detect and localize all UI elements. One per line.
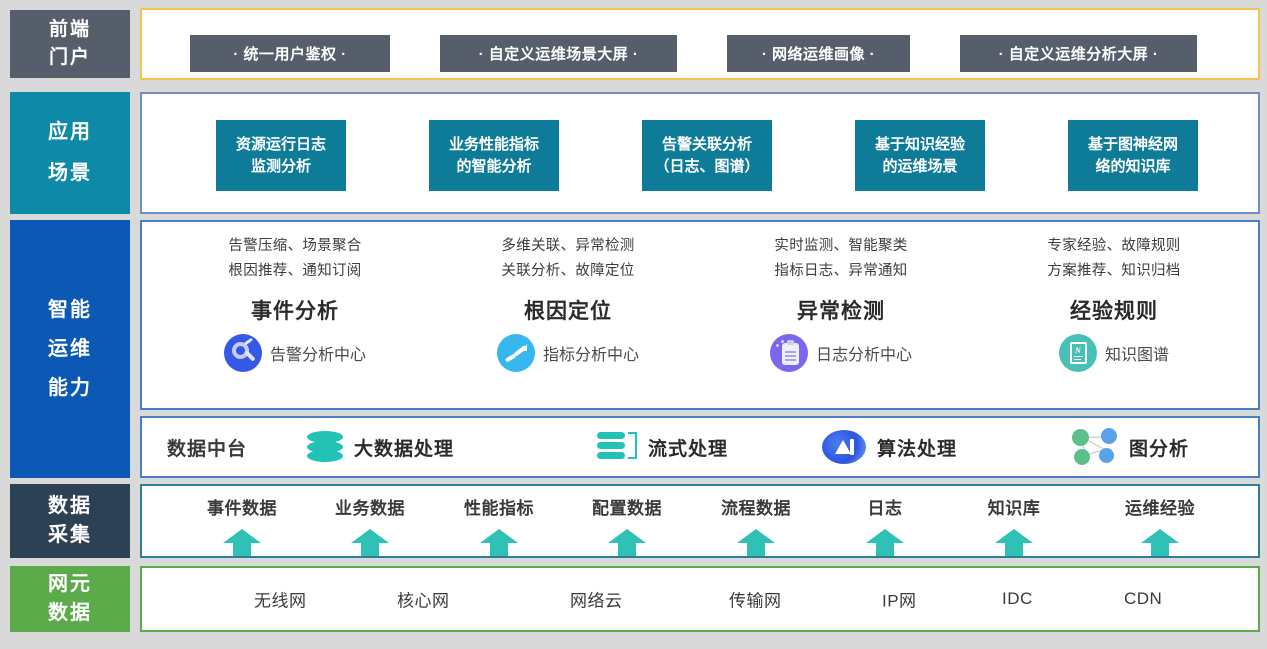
network-elements-panel: 无线网 核心网 网络云 传输网 IP网 IDC CDN <box>140 566 1260 632</box>
data-collection-label: 运维经验 <box>1100 494 1220 519</box>
row-label-portal-line-2: 门户 <box>49 44 91 72</box>
data-collection-item-6[interactable]: 知识库 <box>954 494 1074 556</box>
portal-chip-label: · 自定义运维分析大屏 · <box>999 43 1159 64</box>
capability-title: 根因定位 <box>443 295 693 325</box>
data-platform-item-stream[interactable]: 流式处理 <box>597 418 728 476</box>
scene-box-line-2: 络的知识库 <box>1095 156 1170 178</box>
capability-column-event-analysis: 告警压缩、场景聚合 根因推荐、通知订阅 事件分析 告警分析中心 <box>170 234 420 372</box>
scene-box-line-2: （日志、图谱） <box>654 156 759 178</box>
data-collection-item-3[interactable]: 配置数据 <box>567 494 687 556</box>
capability-subtext-line-2: 指标日志、异常通知 <box>716 259 966 284</box>
metric-analysis-icon <box>497 334 535 372</box>
portal-chip-label: · 网络运维画像 · <box>762 43 875 64</box>
knowledge-graph-icon: N <box>1059 334 1097 372</box>
network-element-item-0[interactable]: 无线网 <box>254 587 307 612</box>
capability-panel: 告警压缩、场景聚合 根因推荐、通知订阅 事件分析 告警分析中心 多维关联、异常检… <box>140 220 1260 410</box>
architecture-diagram: 前端 门户 · 统一用户鉴权 · · 自定义运维场景大屏 · · 网络运维画像 … <box>0 0 1267 649</box>
portal-chip-3[interactable]: · 自定义运维分析大屏 · <box>960 35 1197 72</box>
application-panel: 资源运行日志 监测分析 业务性能指标 的智能分析 告警关联分析 （日志、图谱） … <box>140 92 1260 214</box>
data-collection-label: 事件数据 <box>182 494 302 519</box>
stream-processing-icon <box>597 431 637 463</box>
scene-box-line-1: 业务性能指标 <box>449 134 539 156</box>
network-element-label: CDN <box>1124 589 1162 608</box>
alarm-analysis-icon <box>224 334 262 372</box>
arrow-up-icon <box>223 529 261 556</box>
capability-product-item[interactable]: N 知识图谱 <box>989 334 1239 372</box>
data-platform-panel: 数据中台 大数据处理 流式处理 算法处理 <box>140 416 1260 478</box>
data-platform-item-label: 图分析 <box>1129 434 1189 461</box>
arrow-up-icon <box>608 529 646 556</box>
network-element-label: IDC <box>1002 589 1033 608</box>
arrow-up-icon <box>351 529 389 556</box>
scene-box-line-2: 的运维场景 <box>882 156 957 178</box>
data-platform-title: 数据中台 <box>167 434 247 461</box>
data-platform-item-bigdata[interactable]: 大数据处理 <box>307 418 454 476</box>
row-label-capability-line-3: 能力 <box>48 374 92 403</box>
capability-product-item[interactable]: 日志分析中心 <box>716 334 966 372</box>
data-collection-panel: 事件数据 业务数据 性能指标 配置数据 流程数据 日志 知识库 运维经验 <box>140 484 1260 558</box>
row-label-application-line-1: 应用 <box>48 118 92 147</box>
arrow-up-icon <box>1141 529 1179 556</box>
scene-box-line-2: 监测分析 <box>251 156 311 178</box>
scene-box-0[interactable]: 资源运行日志 监测分析 <box>216 120 346 191</box>
scene-box-1[interactable]: 业务性能指标 的智能分析 <box>429 120 559 191</box>
network-element-label: IP网 <box>882 592 917 611</box>
arrow-up-icon <box>995 529 1033 556</box>
row-label-portal-line-1: 前端 <box>49 16 91 44</box>
capability-product-label: 指标分析中心 <box>543 341 639 365</box>
row-label-data-collection-line-2: 采集 <box>48 521 92 550</box>
data-collection-item-4[interactable]: 流程数据 <box>696 494 816 556</box>
capability-subtext-line-1: 专家经验、故障规则 <box>989 234 1239 259</box>
capability-subtext-line-1: 实时监测、智能聚类 <box>716 234 966 259</box>
data-collection-item-7[interactable]: 运维经验 <box>1100 494 1220 556</box>
capability-subtext-line-1: 告警压缩、场景聚合 <box>170 234 420 259</box>
capability-column-root-cause: 多维关联、异常检测 关联分析、故障定位 根因定位 指标分析中心 <box>443 234 693 372</box>
row-label-data-collection-line-1: 数据 <box>48 492 92 521</box>
row-label-network-elements-line-1: 网元 <box>48 570 92 599</box>
network-element-item-3[interactable]: 传输网 <box>729 587 782 612</box>
capability-subtext-line-2: 关联分析、故障定位 <box>443 259 693 284</box>
scene-box-2[interactable]: 告警关联分析 （日志、图谱） <box>642 120 772 191</box>
network-element-label: 无线网 <box>254 592 307 611</box>
portal-chip-0[interactable]: · 统一用户鉴权 · <box>190 35 390 72</box>
arrow-up-icon <box>866 529 904 556</box>
capability-subtext-line-2: 根因推荐、通知订阅 <box>170 259 420 284</box>
data-platform-title-item: 数据中台 <box>167 418 247 476</box>
data-platform-item-algorithm[interactable]: 算法处理 <box>822 418 957 476</box>
scene-box-line-2: 的智能分析 <box>456 156 531 178</box>
row-label-network-elements: 网元 数据 <box>10 566 130 632</box>
data-collection-item-2[interactable]: 性能指标 <box>439 494 559 556</box>
data-collection-label: 性能指标 <box>439 494 559 519</box>
portal-chip-label: · 自定义运维场景大屏 · <box>479 43 639 64</box>
network-element-label: 网络云 <box>570 592 623 611</box>
data-collection-item-1[interactable]: 业务数据 <box>310 494 430 556</box>
database-icon <box>307 431 343 463</box>
capability-product-item[interactable]: 告警分析中心 <box>170 334 420 372</box>
arrow-up-icon <box>480 529 518 556</box>
portal-chip-2[interactable]: · 网络运维画像 · <box>727 35 910 72</box>
portal-chip-1[interactable]: · 自定义运维场景大屏 · <box>440 35 677 72</box>
data-collection-label: 日志 <box>825 494 945 519</box>
data-collection-item-5[interactable]: 日志 <box>825 494 945 556</box>
portal-panel: · 统一用户鉴权 · · 自定义运维场景大屏 · · 网络运维画像 · · 自定… <box>140 8 1260 80</box>
network-element-item-4[interactable]: IP网 <box>882 587 917 612</box>
network-element-item-5[interactable]: IDC <box>1002 589 1033 609</box>
scene-box-4[interactable]: 基于图神经网 络的知识库 <box>1068 120 1198 191</box>
capability-title: 经验规则 <box>989 295 1239 325</box>
data-collection-item-0[interactable]: 事件数据 <box>182 494 302 556</box>
graph-analysis-icon <box>1072 427 1118 467</box>
data-collection-label: 业务数据 <box>310 494 430 519</box>
row-label-application: 应用 场景 <box>10 92 130 214</box>
data-platform-item-label: 算法处理 <box>877 434 957 461</box>
network-element-item-6[interactable]: CDN <box>1124 589 1162 609</box>
scene-box-line-1: 基于知识经验 <box>875 134 965 156</box>
data-platform-item-label: 流式处理 <box>648 434 728 461</box>
capability-product-item[interactable]: 指标分析中心 <box>443 334 693 372</box>
arrow-up-icon <box>737 529 775 556</box>
capability-product-label: 告警分析中心 <box>270 341 366 365</box>
row-label-capability: 智能 运维 能力 <box>10 220 130 478</box>
capability-column-experience-rules: 专家经验、故障规则 方案推荐、知识归档 经验规则 N 知识图谱 <box>989 234 1239 372</box>
scene-box-3[interactable]: 基于知识经验 的运维场景 <box>855 120 985 191</box>
row-label-portal: 前端 门户 <box>10 10 130 78</box>
row-label-network-elements-line-2: 数据 <box>48 599 92 628</box>
scene-box-line-1: 告警关联分析 <box>662 134 752 156</box>
ai-algorithm-icon <box>822 430 866 464</box>
data-collection-label: 配置数据 <box>567 494 687 519</box>
scene-box-line-1: 资源运行日志 <box>236 134 326 156</box>
network-element-item-2[interactable]: 网络云 <box>570 587 623 612</box>
network-element-label: 传输网 <box>729 592 782 611</box>
capability-product-label: 日志分析中心 <box>816 341 912 365</box>
log-analysis-icon <box>770 334 808 372</box>
capability-column-anomaly-detection: 实时监测、智能聚类 指标日志、异常通知 异常检测 日志分析中心 <box>716 234 966 372</box>
scene-box-line-1: 基于图神经网 <box>1088 134 1178 156</box>
capability-subtext-line-2: 方案推荐、知识归档 <box>989 259 1239 284</box>
capability-subtext-line-1: 多维关联、异常检测 <box>443 234 693 259</box>
data-collection-label: 知识库 <box>954 494 1074 519</box>
row-label-capability-line-1: 智能 <box>48 296 92 325</box>
data-collection-label: 流程数据 <box>696 494 816 519</box>
network-element-item-1[interactable]: 核心网 <box>397 587 450 612</box>
row-label-data-collection: 数据 采集 <box>10 484 130 558</box>
capability-title: 异常检测 <box>716 295 966 325</box>
data-platform-item-label: 大数据处理 <box>354 434 454 461</box>
capability-title: 事件分析 <box>170 295 420 325</box>
network-element-label: 核心网 <box>397 592 450 611</box>
capability-product-label: 知识图谱 <box>1105 341 1169 365</box>
data-platform-item-graph[interactable]: 图分析 <box>1072 418 1189 476</box>
row-label-capability-line-2: 运维 <box>48 335 92 364</box>
portal-chip-label: · 统一用户鉴权 · <box>233 43 346 64</box>
row-label-application-line-2: 场景 <box>48 159 92 188</box>
